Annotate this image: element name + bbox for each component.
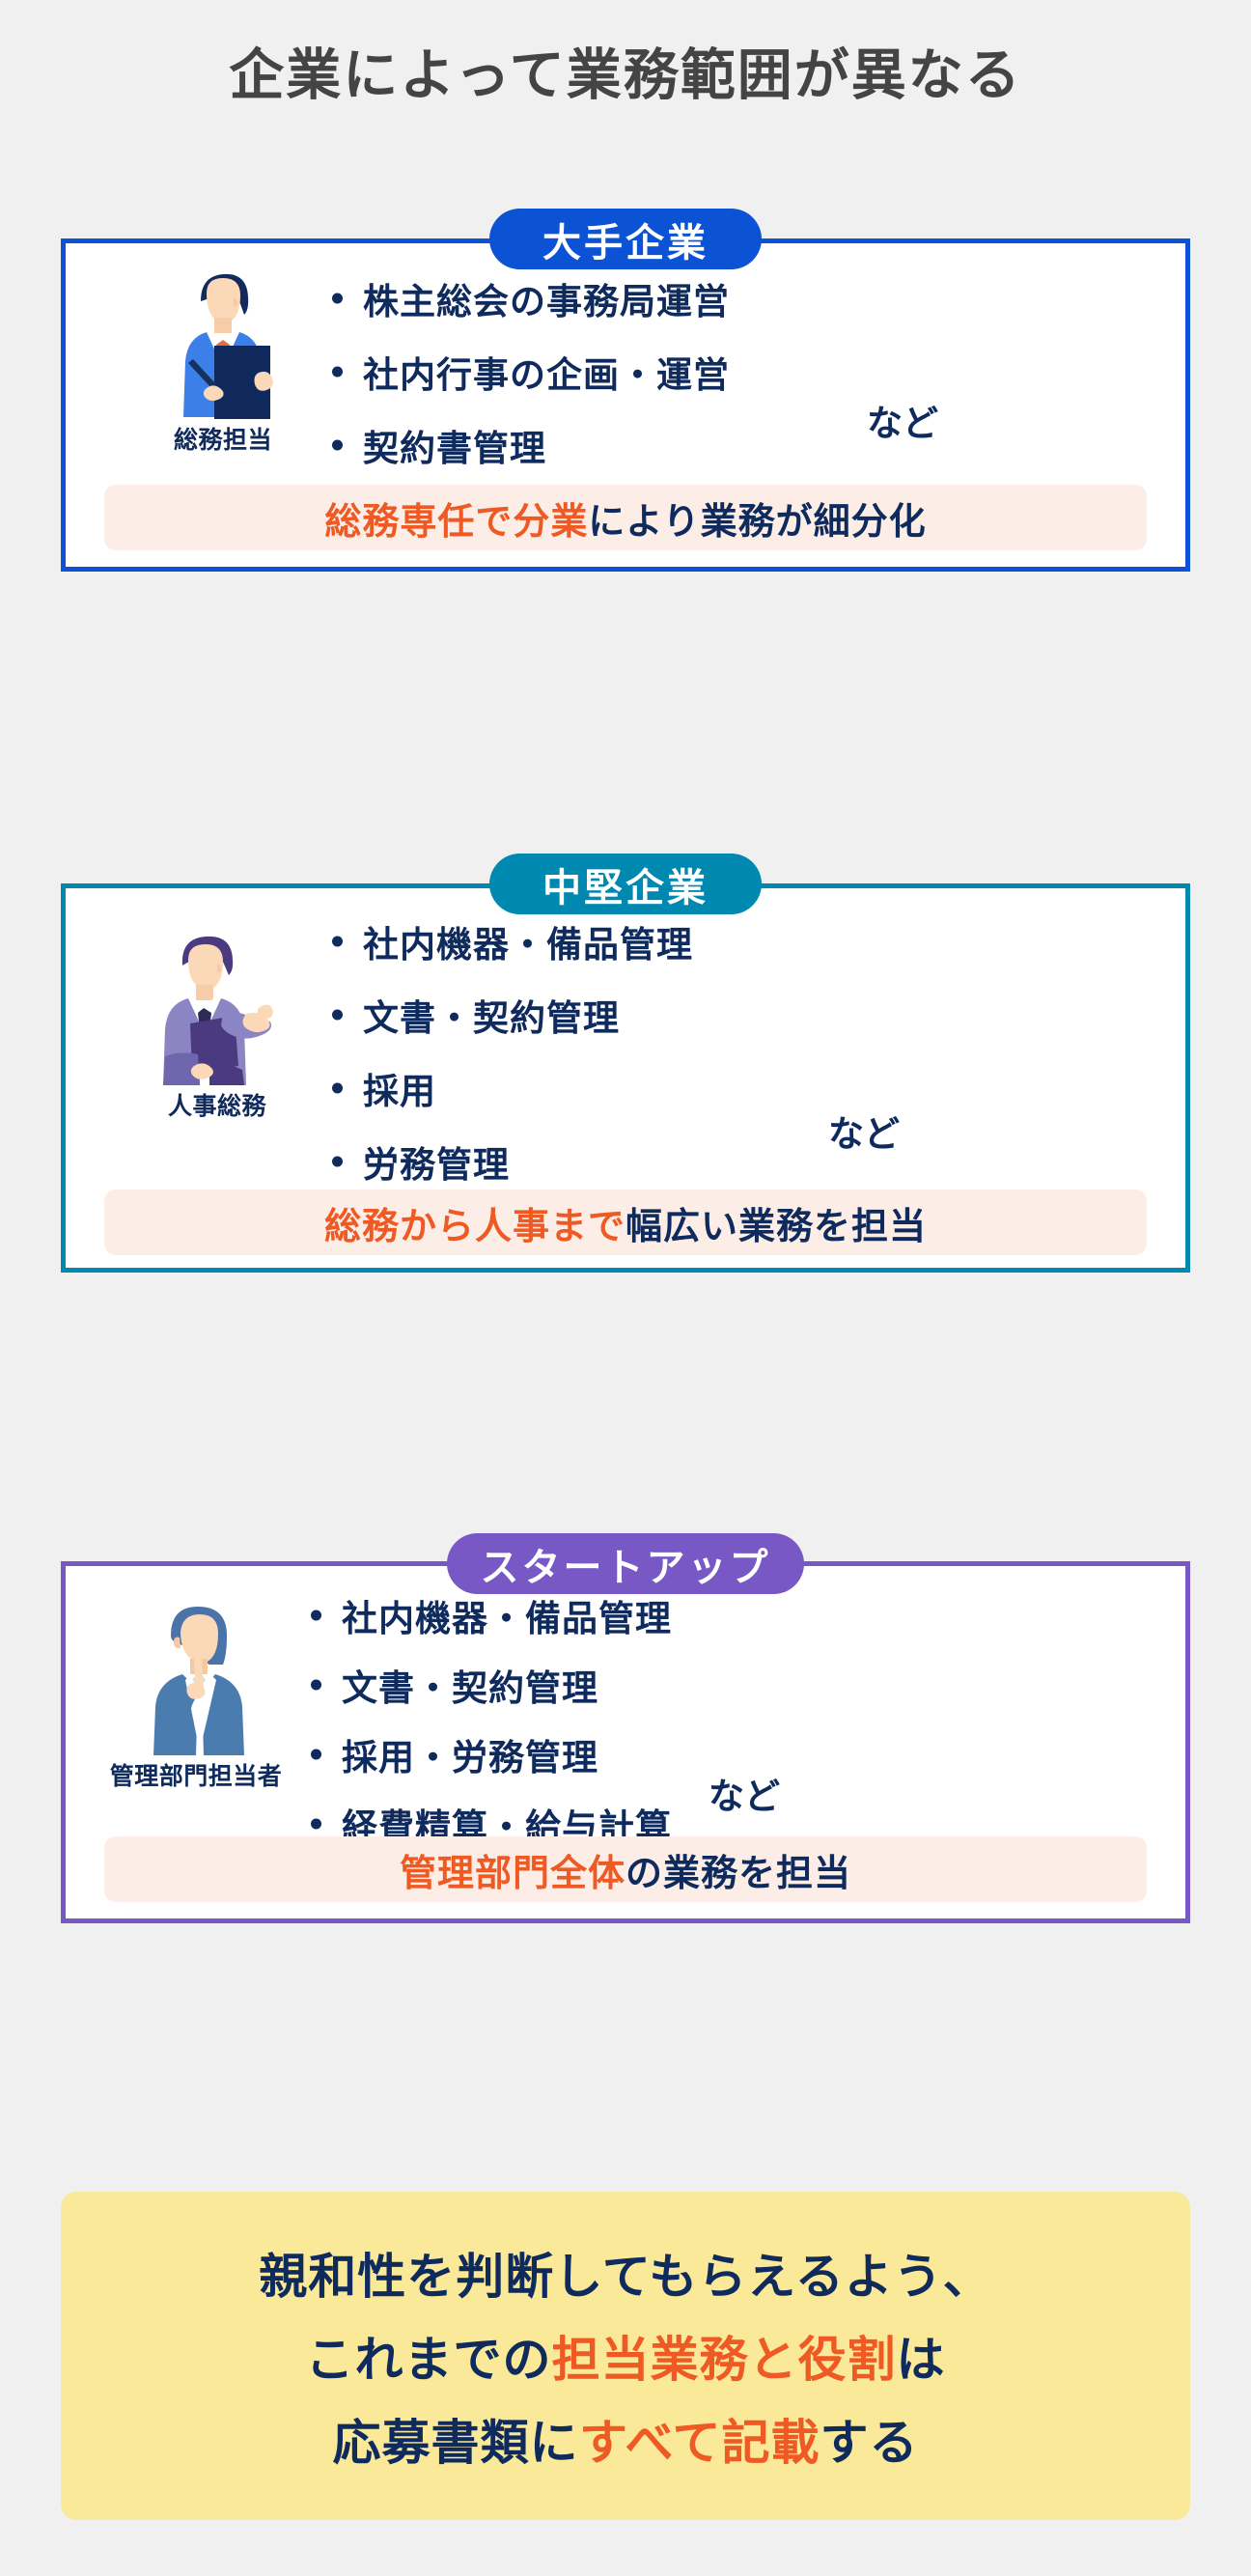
list-item: 社内機器・備品管理	[305, 1589, 672, 1641]
figure-column: 管理部門担当者	[66, 1603, 326, 1792]
list-item: 労務管理	[326, 1135, 693, 1188]
businessman-with-folder-illustration	[140, 931, 294, 1085]
figure-column: 人事総務	[87, 931, 347, 1122]
card-midsize-company: 人事総務 社内機器・備品管理 文書・契約管理 採用 労務管理 など 総務から人事…	[61, 883, 1190, 1273]
figure-label: 人事総務	[87, 1087, 347, 1122]
footer-line-3: 応募書類にすべて記載する	[333, 2404, 919, 2474]
badge-startup: スタートアップ	[447, 1533, 804, 1594]
etc-label: など	[828, 1105, 900, 1157]
card-body: 総務担当 株主総会の事務局運営 社内行事の企画・運営 契約書管理 など 総務専任…	[66, 243, 1185, 567]
list-item: 社内機器・備品管理	[326, 915, 693, 967]
summary-normal: 幅広い業務を担当	[625, 1196, 927, 1249]
bullet-list: 社内機器・備品管理 文書・契約管理 採用・労務管理 経費精算・給与計算 など	[305, 1589, 672, 1850]
summary-bar: 管理部門全体の業務を担当	[104, 1836, 1147, 1902]
summary-highlight: 管理部門全体	[400, 1843, 625, 1896]
bullet-list: 株主総会の事務局運営 社内行事の企画・運営 契約書管理 など	[326, 272, 730, 471]
footer-text: は	[897, 2332, 946, 2388]
businesswoman-pointing-illustration	[119, 1603, 273, 1755]
list-item: 文書・契約管理	[326, 989, 693, 1041]
footer-callout: 親和性を判断してもらえるよう、 これまでの担当業務と役割は 応募書類にすべて記載…	[61, 2192, 1190, 2520]
list-item: 採用・労務管理	[305, 1728, 672, 1780]
figure-label: 管理部門担当者	[66, 1757, 326, 1792]
summary-normal: により業務が細分化	[588, 491, 926, 545]
footer-text: 応募書類に	[333, 2415, 580, 2471]
list-item: 採用	[326, 1062, 693, 1114]
list-item: 契約書管理	[326, 419, 730, 471]
card-startup: 管理部門担当者 社内機器・備品管理 文書・契約管理 採用・労務管理 経費精算・給…	[61, 1561, 1190, 1923]
bullet-list: 社内機器・備品管理 文書・契約管理 採用 労務管理 など	[326, 915, 693, 1188]
businessman-with-clipboard-illustration	[151, 265, 295, 419]
footer-highlight: すべて記載	[579, 2415, 820, 2471]
badge-large-company: 大手企業	[489, 209, 762, 269]
summary-bar: 総務専任で分業により業務が細分化	[104, 485, 1147, 550]
card-large-company: 総務担当 株主総会の事務局運営 社内行事の企画・運営 契約書管理 など 総務専任…	[61, 238, 1190, 572]
summary-bar: 総務から人事まで幅広い業務を担当	[104, 1190, 1147, 1255]
etc-label: など	[867, 394, 938, 446]
list-item: 文書・契約管理	[305, 1659, 672, 1711]
footer-text: これまでの	[306, 2332, 552, 2388]
etc-label: など	[709, 1767, 780, 1819]
infographic-page: 企業によって業務範囲が異なる	[0, 0, 1251, 2576]
badge-midsize-company: 中堅企業	[489, 854, 762, 914]
list-item: 株主総会の事務局運営	[326, 272, 730, 324]
figure-column: 総務担当	[93, 265, 353, 456]
footer-highlight: 担当業務と役割	[552, 2332, 897, 2388]
card-body: 管理部門担当者 社内機器・備品管理 文書・契約管理 採用・労務管理 経費精算・給…	[66, 1566, 1185, 1918]
footer-text: する	[820, 2415, 919, 2471]
summary-highlight: 総務から人事まで	[324, 1196, 625, 1249]
summary-normal: の業務を担当	[625, 1843, 851, 1896]
footer-line-2: これまでの担当業務と役割は	[306, 2321, 946, 2391]
list-item: 社内行事の企画・運営	[326, 346, 730, 398]
summary-highlight: 総務専任で分業	[324, 491, 588, 545]
footer-text: 親和性を判断してもらえるよう、	[259, 2249, 992, 2305]
figure-label: 総務担当	[93, 421, 353, 456]
footer-line-1: 親和性を判断してもらえるよう、	[259, 2238, 992, 2308]
card-body: 人事総務 社内機器・備品管理 文書・契約管理 採用 労務管理 など 総務から人事…	[66, 888, 1185, 1268]
page-title: 企業によって業務範囲が異なる	[0, 42, 1251, 108]
